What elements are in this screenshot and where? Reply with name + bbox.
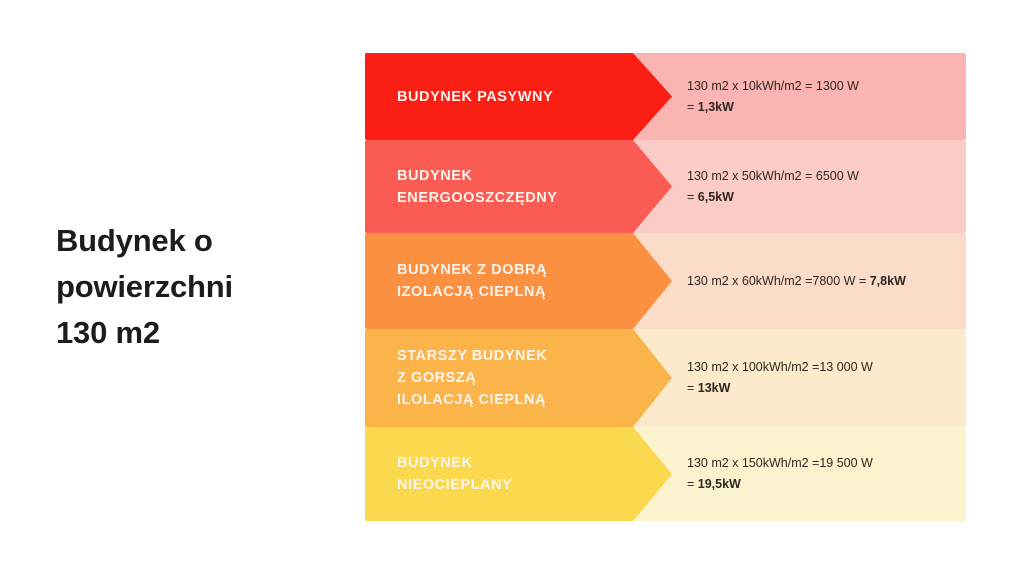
- band-label-line: ILOLACJĄ CIEPLNĄ: [397, 389, 647, 411]
- page-title: Budynek o powierzchni 130 m2: [56, 218, 336, 356]
- energy-band-row: BUDYNEK PASYWNY 130 m2 x 10kWh/m2 = 1300…: [365, 53, 966, 140]
- band-value-line: 130 m2 x 10kWh/m2 = 1300 W: [687, 76, 962, 97]
- energy-band-row: BUDYNEK Z DOBRĄIZOLACJĄ CIEPLNĄ 130 m2 x…: [365, 233, 966, 329]
- band-value: 130 m2 x 100kWh/m2 =13 000 W= 13kW: [687, 329, 962, 427]
- band-label: STARSZY BUDYNEKZ GORSZĄILOLACJĄ CIEPLNĄ: [397, 329, 647, 427]
- band-label-line: BUDYNEK: [397, 452, 647, 474]
- page-title-line-2: powierzchni: [56, 264, 336, 310]
- band-value: 130 m2 x 50kWh/m2 = 6500 W= 6,5kW: [687, 140, 962, 233]
- energy-band-row: BUDYNEKNIEOCIEPLANY 130 m2 x 150kWh/m2 =…: [365, 427, 966, 521]
- band-label-line: Z GORSZĄ: [397, 367, 647, 389]
- energy-band-row: BUDYNEKENERGOOSZCZĘDNY 130 m2 x 50kWh/m2…: [365, 140, 966, 233]
- band-label-line: NIEOCIEPLANY: [397, 474, 647, 496]
- band-value: 130 m2 x 10kWh/m2 = 1300 W= 1,3kW: [687, 53, 962, 140]
- band-value-highlight: 13kW: [698, 381, 731, 395]
- band-label-line: STARSZY BUDYNEK: [397, 345, 647, 367]
- band-label: BUDYNEK Z DOBRĄIZOLACJĄ CIEPLNĄ: [397, 233, 647, 329]
- band-value-line: = 1,3kW: [687, 97, 962, 118]
- page-title-line-3: 130 m2: [56, 310, 336, 356]
- band-label-line: BUDYNEK PASYWNY: [397, 86, 647, 108]
- band-value: 130 m2 x 60kWh/m2 =7800 W = 7,8kW: [687, 233, 962, 329]
- band-value-line: 130 m2 x 100kWh/m2 =13 000 W: [687, 357, 962, 378]
- band-value: 130 m2 x 150kWh/m2 =19 500 W= 19,5kW: [687, 427, 962, 521]
- band-value-line: = 13kW: [687, 378, 962, 399]
- band-label-line: ENERGOOSZCZĘDNY: [397, 187, 647, 209]
- page-title-line-1: Budynek o: [56, 218, 336, 264]
- band-value-line: = 6,5kW: [687, 187, 962, 208]
- band-label: BUDYNEKENERGOOSZCZĘDNY: [397, 140, 647, 233]
- infographic-slide: Budynek o powierzchni 130 m2 BUDYNEK PAS…: [0, 0, 1024, 576]
- band-value-highlight: 19,5kW: [698, 477, 741, 491]
- band-label-line: BUDYNEK: [397, 165, 647, 187]
- band-label-line: BUDYNEK Z DOBRĄ: [397, 259, 647, 281]
- band-value-line: = 19,5kW: [687, 474, 962, 495]
- band-value-line: 130 m2 x 60kWh/m2 =7800 W = 7,8kW: [687, 271, 962, 292]
- band-value-line: 130 m2 x 50kWh/m2 = 6500 W: [687, 166, 962, 187]
- band-label: BUDYNEK PASYWNY: [397, 53, 647, 140]
- band-label: BUDYNEKNIEOCIEPLANY: [397, 427, 647, 521]
- band-value-highlight: 7,8kW: [870, 274, 906, 288]
- band-value-highlight: 1,3kW: [698, 100, 734, 114]
- band-value-highlight: 6,5kW: [698, 190, 734, 204]
- band-label-line: IZOLACJĄ CIEPLNĄ: [397, 281, 647, 303]
- band-value-line: 130 m2 x 150kWh/m2 =19 500 W: [687, 453, 962, 474]
- energy-bands-chart: BUDYNEK PASYWNY 130 m2 x 10kWh/m2 = 1300…: [365, 53, 966, 521]
- energy-band-row: STARSZY BUDYNEKZ GORSZĄILOLACJĄ CIEPLNĄ …: [365, 329, 966, 427]
